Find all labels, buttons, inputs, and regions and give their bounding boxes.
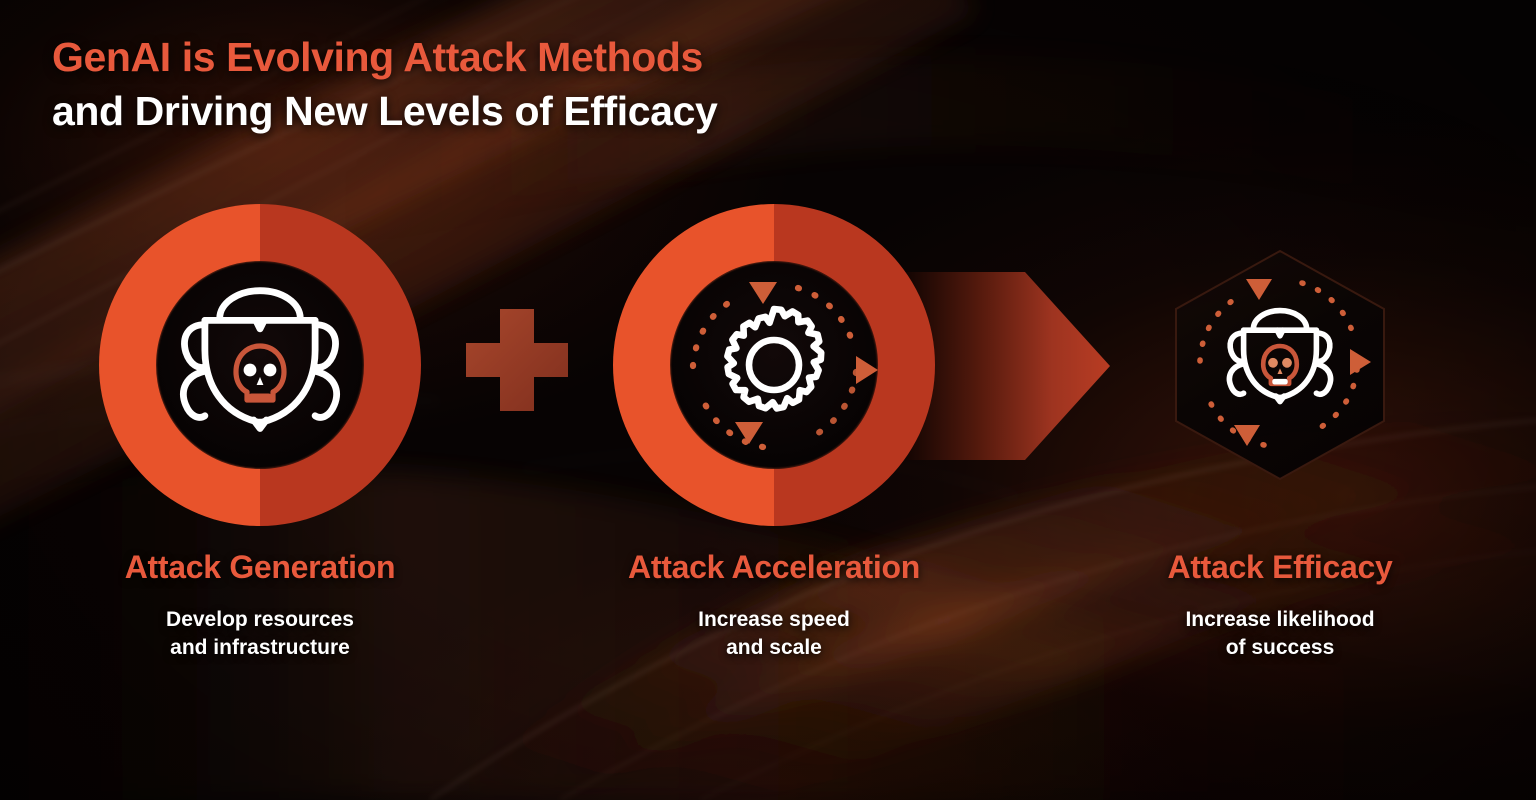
donut-ring-2 — [613, 204, 935, 526]
stage-3-title: Attack Efficacy — [1090, 550, 1470, 586]
title-line-2: and Driving New Levels of Efficacy — [52, 87, 717, 135]
page-title: GenAI is Evolving Attack Methods and Dri… — [52, 33, 717, 136]
stage-1-subtitle: Develop resources and infrastructure — [60, 606, 460, 662]
stage-2-title: Attack Acceleration — [578, 550, 970, 586]
hexagon-badge — [1172, 249, 1388, 481]
stage-attack-acceleration[interactable]: Attack Acceleration Increase speed and s… — [578, 202, 970, 662]
stage-1-graphic — [60, 202, 460, 528]
stage-1-title: Attack Generation — [60, 550, 460, 586]
stage-attack-generation[interactable]: Attack Generation Develop resources and … — [60, 202, 460, 662]
stage-2-subtitle: Increase speed and scale — [578, 606, 970, 662]
title-line-1: GenAI is Evolving Attack Methods — [52, 33, 717, 81]
stage-3-caption: Attack Efficacy Increase likelihood of s… — [1090, 550, 1470, 662]
stage-attack-efficacy[interactable]: Attack Efficacy Increase likelihood of s… — [1090, 202, 1470, 662]
stage-1-caption: Attack Generation Develop resources and … — [60, 550, 460, 662]
donut-ring-1 — [99, 204, 421, 526]
plus-connector — [462, 305, 572, 415]
stage-3-graphic — [1090, 202, 1470, 528]
stage-2-graphic — [578, 202, 970, 528]
stage-2-caption: Attack Acceleration Increase speed and s… — [578, 550, 970, 662]
stage-3-subtitle: Increase likelihood of success — [1090, 606, 1470, 662]
infographic-canvas: GenAI is Evolving Attack Methods and Dri… — [0, 0, 1536, 800]
